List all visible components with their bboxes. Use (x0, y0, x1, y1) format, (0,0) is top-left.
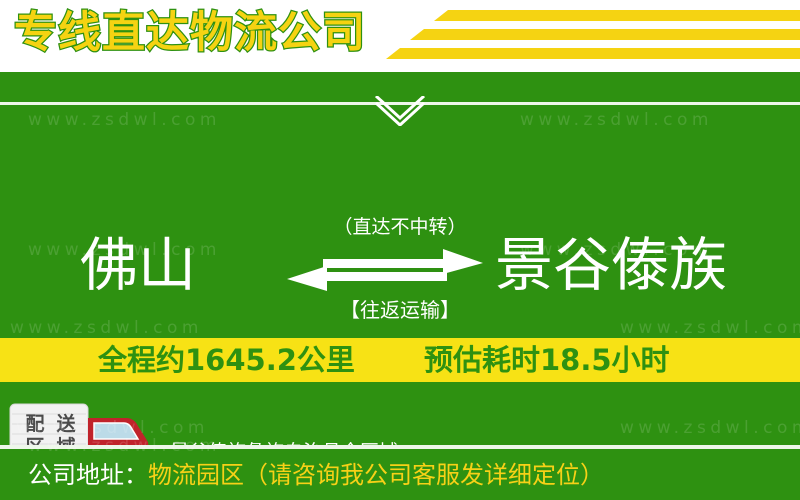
header-stripe-3 (386, 48, 800, 59)
header-stripe-1 (434, 10, 800, 21)
origin-city: 佛山 (80, 230, 196, 300)
logistics-route-poster: 专线直达物流公司 佛山 景谷傣族 （直达不中转） 【 (0, 0, 800, 500)
poster-footer: 公司地址：物流园区（请咨询我公司客服发详细定位） (0, 449, 800, 500)
header-stripes-decoration (400, 8, 800, 66)
route-note-direct: （直达不中转） (300, 212, 500, 239)
stats-band: 全程约1645.2公里 预估耗时18.5小时 (0, 338, 800, 382)
bidirectional-arrow-icon (285, 248, 485, 292)
estimated-duration: 预估耗时18.5小时 (424, 338, 670, 382)
chevron-down-icon (374, 96, 426, 126)
route-note-roundtrip: 【往返运输】 (300, 294, 500, 323)
address-value: 物流园区（请咨询我公司客服发详细定位） (148, 461, 604, 489)
poster-body: 佛山 景谷傣族 （直达不中转） 【往返运输】 全程约1645.2公里 预估耗时1… (0, 72, 800, 445)
header-stripe-2 (410, 29, 800, 40)
destination-city: 景谷傣族 (495, 230, 727, 300)
company-address-line: 公司地址：物流园区（请咨询我公司客服发详细定位） (28, 458, 604, 492)
total-distance: 全程约1645.2公里 (98, 338, 355, 382)
poster-header: 专线直达物流公司 (0, 0, 800, 72)
truck-badge-char-2: 送 (51, 413, 82, 436)
page-title: 专线直达物流公司 (14, 7, 366, 59)
truck-badge-char-1: 配 (20, 413, 51, 436)
address-label: 公司地址： (28, 461, 148, 489)
